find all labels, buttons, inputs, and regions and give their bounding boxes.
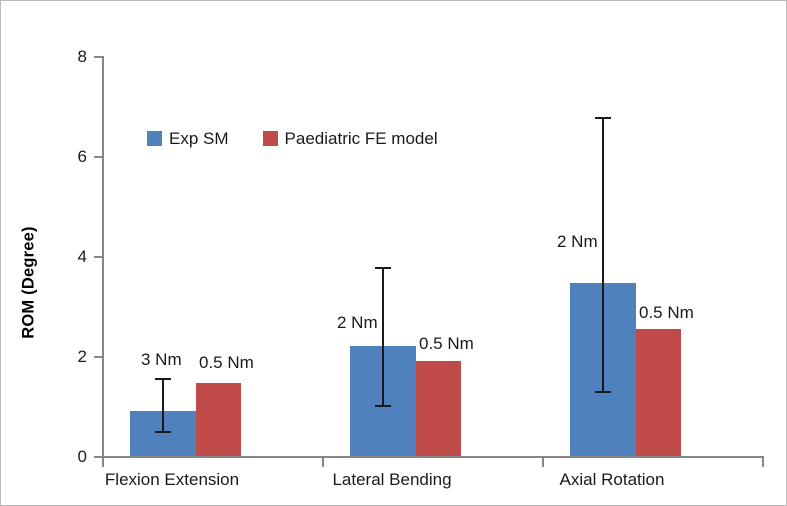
data-label-model-axial-rotation: 0.5 Nm [639, 304, 694, 321]
error-cap-top [155, 378, 171, 380]
error-bar-exp-flexion-extension [162, 378, 164, 433]
error-cap-top [595, 117, 611, 119]
x-category-label-axial-rotation: Axial Rotation [502, 471, 722, 488]
y-tick-8 [94, 56, 102, 58]
error-cap-bottom [375, 405, 391, 407]
plot-area: 0 2 4 6 8 ROM (Degree) 3 Nm 0.5 Nm Flexi… [1, 1, 787, 506]
data-label-model-flexion-extension: 0.5 Nm [199, 354, 254, 371]
legend-entry-paediatric-fe-model: Paediatric FE model [263, 130, 438, 147]
bar-model-lateral-bending [416, 361, 461, 456]
bar-chart: 0 2 4 6 8 ROM (Degree) 3 Nm 0.5 Nm Flexi… [0, 0, 787, 506]
y-tick-label-8: 8 [59, 48, 87, 65]
y-tick-2 [94, 356, 102, 358]
x-category-label-flexion-extension: Flexion Extension [62, 471, 282, 488]
legend-entry-exp-sm: Exp SM [147, 130, 229, 147]
y-tick-label-0: 0 [59, 448, 87, 465]
legend: Exp SM Paediatric FE model [147, 130, 438, 147]
legend-label-paediatric-fe-model: Paediatric FE model [285, 130, 438, 147]
bar-model-axial-rotation [636, 329, 681, 456]
error-cap-bottom [595, 391, 611, 393]
x-tick-2 [542, 456, 544, 467]
y-tick-label-6: 6 [59, 148, 87, 165]
bar-model-flexion-extension [196, 383, 241, 456]
error-bar-exp-lateral-bending [382, 267, 384, 407]
x-tick-end [762, 456, 764, 467]
data-label-exp-axial-rotation: 2 Nm [557, 233, 598, 250]
y-axis-title: ROM (Degree) [20, 198, 39, 368]
error-bar-exp-axial-rotation [602, 117, 604, 393]
legend-label-exp-sm: Exp SM [169, 130, 229, 147]
y-tick-label-4: 4 [59, 248, 87, 265]
y-tick-6 [94, 156, 102, 158]
y-axis-line [102, 56, 104, 457]
x-axis-line [102, 456, 763, 458]
y-tick-label-2: 2 [59, 348, 87, 365]
data-label-model-lateral-bending: 0.5 Nm [419, 335, 474, 352]
y-tick-0 [94, 456, 102, 458]
legend-swatch-icon-exp-sm [147, 131, 162, 146]
x-tick-1 [322, 456, 324, 467]
legend-swatch-icon-paediatric-fe-model [263, 131, 278, 146]
data-label-exp-lateral-bending: 2 Nm [337, 314, 378, 331]
error-cap-bottom [155, 431, 171, 433]
x-category-label-lateral-bending: Lateral Bending [282, 471, 502, 488]
error-cap-top [375, 267, 391, 269]
data-label-exp-flexion-extension: 3 Nm [141, 351, 182, 368]
y-tick-4 [94, 256, 102, 258]
x-tick-start [102, 456, 104, 467]
